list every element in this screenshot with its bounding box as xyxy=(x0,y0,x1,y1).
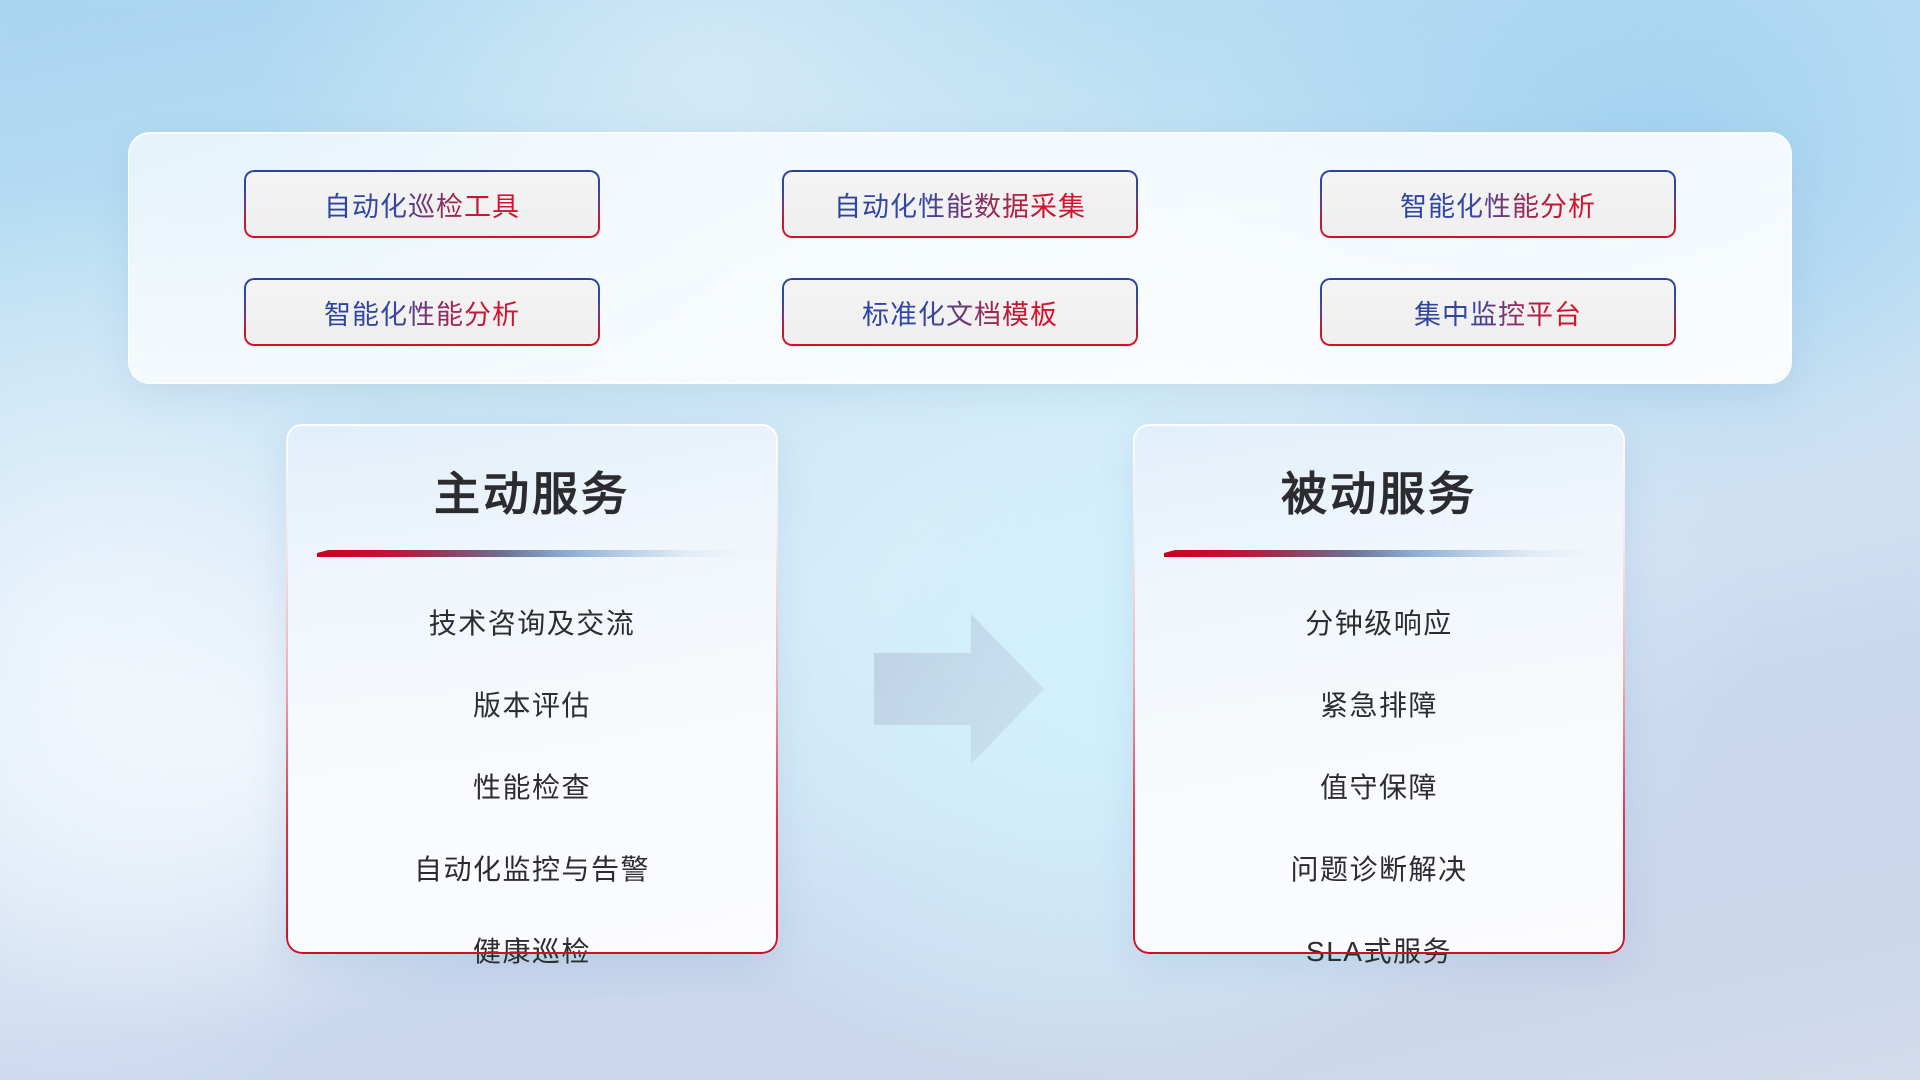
service-item-list: 技术咨询及交流 版本评估 性能检查 自动化监控与告警 健康巡检 xyxy=(286,557,778,991)
service-list-item: 版本评估 xyxy=(286,663,778,745)
service-list-item: 问题诊断解决 xyxy=(1133,827,1625,909)
service-list-item: 紧急排障 xyxy=(1133,663,1625,745)
capability-tag-label: 自动化巡检工具 xyxy=(324,185,520,224)
capability-tag[interactable]: 智能化性能分析 xyxy=(244,278,600,346)
service-card-passive: 被动服务 分钟级响应 紧急排障 值守保障 问题诊断解决 SLA式服务 xyxy=(1133,424,1625,954)
service-card-active: 主动服务 技术咨询及交流 版本评估 性能检查 自动化监控与告警 健康巡检 xyxy=(286,424,778,954)
capability-tag[interactable]: 智能化性能分析 xyxy=(1320,170,1676,238)
capability-tag-label: 标准化文档模板 xyxy=(862,293,1058,332)
capability-tag[interactable]: 集中监控平台 xyxy=(1320,278,1676,346)
title-divider xyxy=(317,550,747,557)
service-list-item: 分钟级响应 xyxy=(1133,581,1625,663)
capability-tag[interactable]: 标准化文档模板 xyxy=(782,278,1138,346)
title-divider xyxy=(1164,550,1594,557)
service-card-title: 被动服务 xyxy=(1133,424,1625,524)
capability-tag[interactable]: 自动化巡检工具 xyxy=(244,170,600,238)
service-item-list: 分钟级响应 紧急排障 值守保障 问题诊断解决 SLA式服务 xyxy=(1133,557,1625,991)
service-list-item: 值守保障 xyxy=(1133,745,1625,827)
service-list-item: 性能检查 xyxy=(286,745,778,827)
service-list-item: 技术咨询及交流 xyxy=(286,581,778,663)
capability-tag-label: 智能化性能分析 xyxy=(324,293,520,332)
arrow-right-icon xyxy=(874,614,1044,764)
capability-tag[interactable]: 自动化性能数据采集 xyxy=(782,170,1138,238)
service-list-item: 自动化监控与告警 xyxy=(286,827,778,909)
capability-tag-label: 智能化性能分析 xyxy=(1400,185,1596,224)
capability-tag-label: 自动化性能数据采集 xyxy=(834,185,1086,224)
capability-tag-label: 集中监控平台 xyxy=(1414,293,1582,332)
service-list-item: SLA式服务 xyxy=(1133,909,1625,991)
service-card-title: 主动服务 xyxy=(286,424,778,524)
service-list-item: 健康巡检 xyxy=(286,909,778,991)
capability-tags-panel: 自动化巡检工具 自动化性能数据采集 智能化性能分析 智能化性能分析 标准化文档模… xyxy=(128,132,1792,384)
